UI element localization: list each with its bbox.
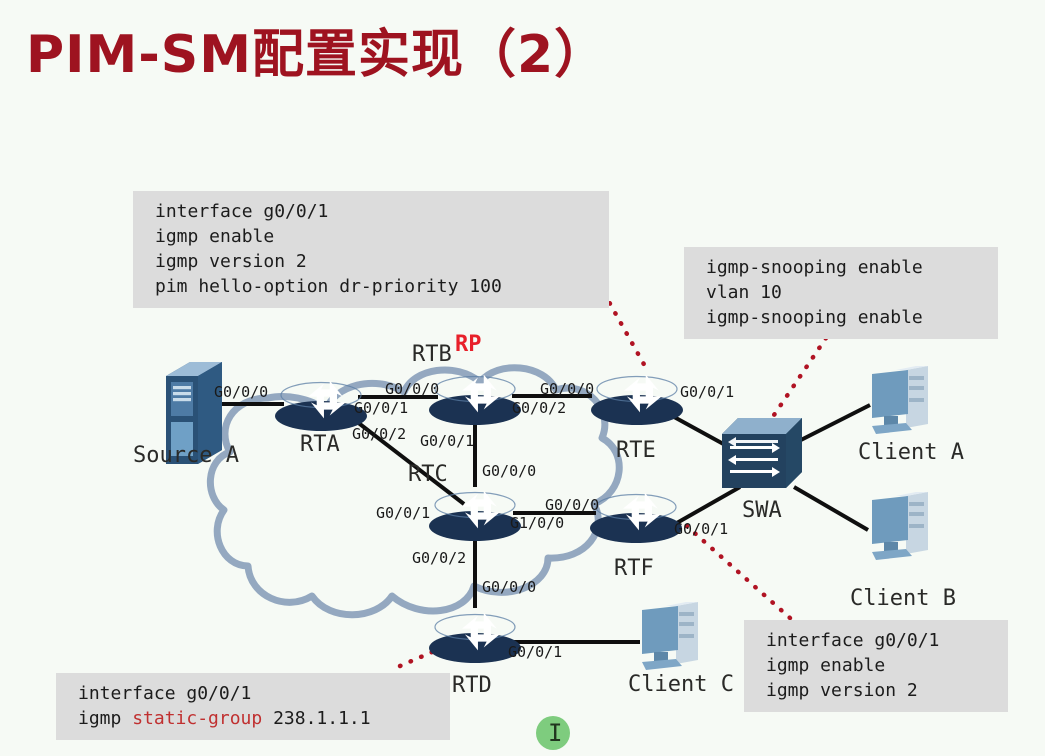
config-line: interface g0/0/1 xyxy=(155,201,328,222)
iface-rta-g001: G0/0/1 xyxy=(354,399,408,417)
iface-src-rta: G0/0/0 xyxy=(214,383,268,401)
config-line: vlan 10 xyxy=(706,282,782,303)
text-cursor-icon: I xyxy=(548,721,562,745)
label-rta: RTA xyxy=(300,432,340,457)
iface-rtc-g001: G0/0/1 xyxy=(376,504,430,522)
config-line-highlight: static-group xyxy=(132,708,262,729)
label-client-c: Client C xyxy=(628,672,734,697)
iface-rtf-g000: G0/0/0 xyxy=(545,496,599,514)
config-box-rtf: interface g0/0/1 igmp enable igmp versio… xyxy=(744,620,1008,712)
iface-rtb-g001: G0/0/1 xyxy=(420,432,474,450)
iface-rtd-g000: G0/0/0 xyxy=(482,578,536,596)
slide-canvas: PIM-SM配置实现（2） xyxy=(0,0,1045,756)
iface-rtd-g001: G0/0/1 xyxy=(508,643,562,661)
iface-rtc-g000: G0/0/0 xyxy=(482,462,536,480)
config-line-suffix: 238.1.1.1 xyxy=(262,708,370,729)
iface-rte-g001: G0/0/1 xyxy=(680,383,734,401)
label-rtb: RTB xyxy=(412,342,452,367)
config-line: igmp version 2 xyxy=(766,680,918,701)
iface-rtc-g100: G1/0/0 xyxy=(510,514,564,532)
label-client-b: Client B xyxy=(850,586,956,611)
label-rtc: RTC xyxy=(408,462,448,487)
config-line: igmp-snooping enable xyxy=(706,307,923,328)
device-rte xyxy=(591,374,683,425)
config-line: igmp-snooping enable xyxy=(706,257,923,278)
label-source-a: Source A xyxy=(133,443,239,468)
device-swa xyxy=(722,418,802,488)
config-line: pim hello-option dr-priority 100 xyxy=(155,276,502,297)
device-client-b xyxy=(872,492,928,560)
config-line: interface g0/0/1 xyxy=(78,683,251,704)
label-rtf: RTF xyxy=(614,556,654,581)
iface-rtf-g001: G0/0/1 xyxy=(674,520,728,538)
device-rtc xyxy=(429,490,521,541)
device-client-c xyxy=(642,602,698,670)
config-line: igmp enable xyxy=(766,655,885,676)
device-rtf xyxy=(590,492,682,543)
config-box-rtb: interface g0/0/1 igmp enable igmp versio… xyxy=(133,191,609,308)
config-line-prefix: igmp xyxy=(78,708,132,729)
label-rte: RTE xyxy=(616,438,656,463)
iface-rtb-rte: G0/0/0 xyxy=(540,380,594,398)
label-client-a: Client A xyxy=(858,440,964,465)
device-client-a xyxy=(872,366,928,434)
label-rtb-rp-role: RP xyxy=(455,332,482,357)
config-line: igmp version 2 xyxy=(155,251,307,272)
iface-rtb-g002: G0/0/2 xyxy=(512,399,566,417)
iface-rta-g002: G0/0/2 xyxy=(352,425,406,443)
iface-rtc-g002: G0/0/2 xyxy=(412,549,466,567)
label-swa: SWA xyxy=(742,498,782,523)
config-line: interface g0/0/1 xyxy=(766,630,939,651)
iface-rta-rtb: G0/0/0 xyxy=(385,380,439,398)
device-rtb xyxy=(429,374,521,425)
config-box-rtd: interface g0/0/1 igmp static-group 238.1… xyxy=(56,673,450,740)
label-rtd: RTD xyxy=(452,673,492,698)
config-line: igmp enable xyxy=(155,226,274,247)
config-box-swa: igmp-snooping enable vlan 10 igmp-snoopi… xyxy=(684,247,998,339)
